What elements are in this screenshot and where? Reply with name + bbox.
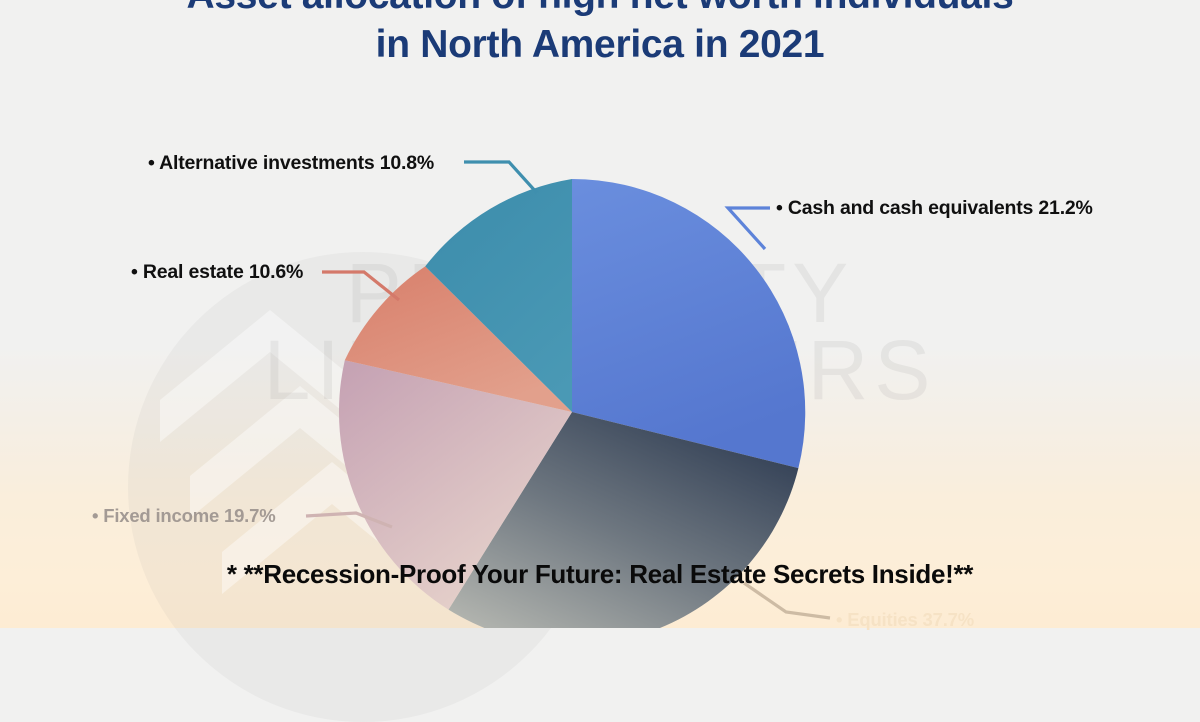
- pie-label-fixed-income: • Fixed income 19.7%: [92, 505, 275, 527]
- leader-line-alternative-investments: [464, 162, 537, 193]
- pie-chart-svg: [0, 0, 1200, 628]
- pie-label-cash: • Cash and cash equivalents 21.2%: [776, 197, 1093, 220]
- chart-title-line-1: Asset allocation of high net worth indiv…: [0, 0, 1200, 21]
- pie-label-alternative-investments: • Alternative investments 10.8%: [148, 152, 434, 175]
- leader-line-cash: [728, 208, 770, 249]
- bottom-caption: * **Recession-Proof Your Future: Real Es…: [0, 559, 1200, 590]
- pie-chart: [0, 0, 1200, 633]
- pie-label-real-estate: • Real estate 10.6%: [131, 261, 303, 284]
- chart-title-line-2: in North America in 2021: [0, 21, 1200, 70]
- chart-title: Asset allocation of high net worth indiv…: [0, 0, 1200, 70]
- leader-line-real-estate: [322, 272, 399, 300]
